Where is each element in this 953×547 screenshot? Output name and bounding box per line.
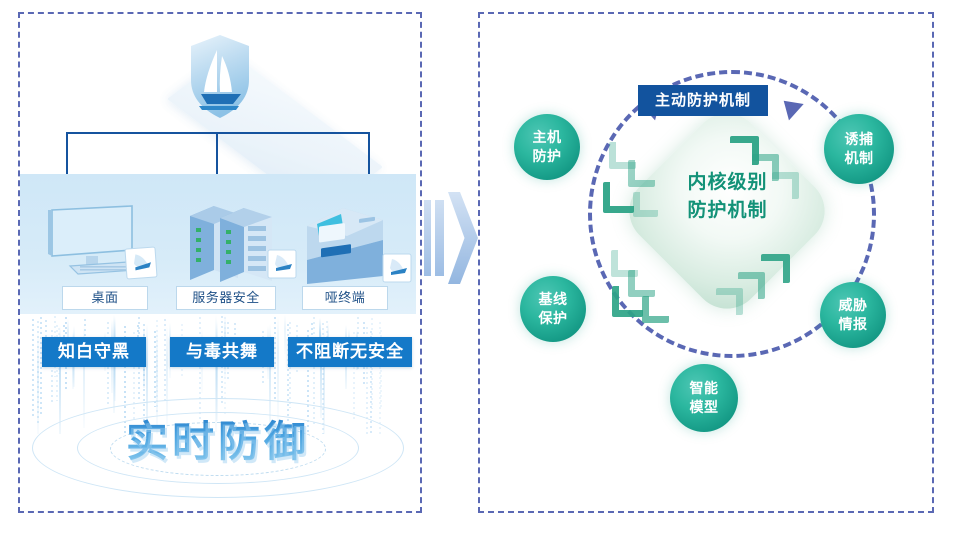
badge-zhibaishouhei: 知白守黑 [42, 337, 146, 367]
satellite-baseline-protection[interactable]: 基线保护 [520, 276, 586, 342]
satellite-label: 诱捕机制 [845, 130, 874, 168]
satellite-threat-intelligence[interactable]: 威胁情报 [820, 282, 886, 348]
left-panel: 桌面 服务器安全 哑终端 知白守黑 与毒共舞 不阻断无安全 实时防御 [18, 12, 422, 513]
shield-sailboat-logo [189, 34, 251, 120]
hero-zone: 实时防御 [20, 386, 416, 511]
device-server [180, 200, 300, 292]
logo-group [152, 32, 288, 172]
satellite-intelligent-model[interactable]: 智能模型 [670, 364, 738, 432]
active-defense-label: 主动防护机制 [638, 85, 768, 116]
right-chevron-arrow [448, 192, 478, 284]
device-desktop [40, 204, 160, 290]
satellite-deception-mechanism[interactable]: 诱捕机制 [824, 114, 894, 184]
satellite-label: 基线保护 [539, 290, 568, 328]
transition-arrow [424, 192, 478, 284]
kernel-diamond-label: 内核级别 防护机制 [630, 169, 825, 225]
bracket-icon [612, 286, 643, 317]
connector-left-stem [66, 132, 68, 176]
kernel-label-line1: 内核级别 [630, 169, 825, 197]
device-label-terminal: 哑终端 [302, 286, 388, 310]
device-atm-terminal [295, 196, 415, 292]
connector-right-stem [368, 132, 370, 176]
hero-title: 实时防御 [20, 408, 416, 469]
diagram-canvas: 桌面 服务器安全 哑终端 知白守黑 与毒共舞 不阻断无安全 实时防御 主动防护机… [0, 0, 953, 547]
badge-yudugongwu: 与毒共舞 [170, 337, 274, 367]
satellite-label: 威胁情报 [839, 296, 868, 334]
bracket-icon [642, 296, 669, 323]
bracket-icon [761, 254, 790, 283]
rain-line [284, 315, 286, 354]
satellite-label: 主机防护 [533, 128, 562, 166]
connector-mid-stem [216, 132, 218, 176]
device-label-desktop: 桌面 [62, 286, 148, 310]
badge-buzuduanwuanquan: 不阻断无安全 [288, 337, 412, 367]
satellite-label: 智能模型 [690, 379, 719, 417]
device-label-server: 服务器安全 [176, 286, 276, 310]
bracket-icon [716, 288, 743, 315]
satellite-host-protection[interactable]: 主机防护 [514, 114, 580, 180]
right-panel: 主动防护机制 内核级别 防护机制 主机防护 诱捕机制 基线保护 [478, 12, 934, 513]
kernel-label-line2: 防护机制 [630, 197, 825, 225]
